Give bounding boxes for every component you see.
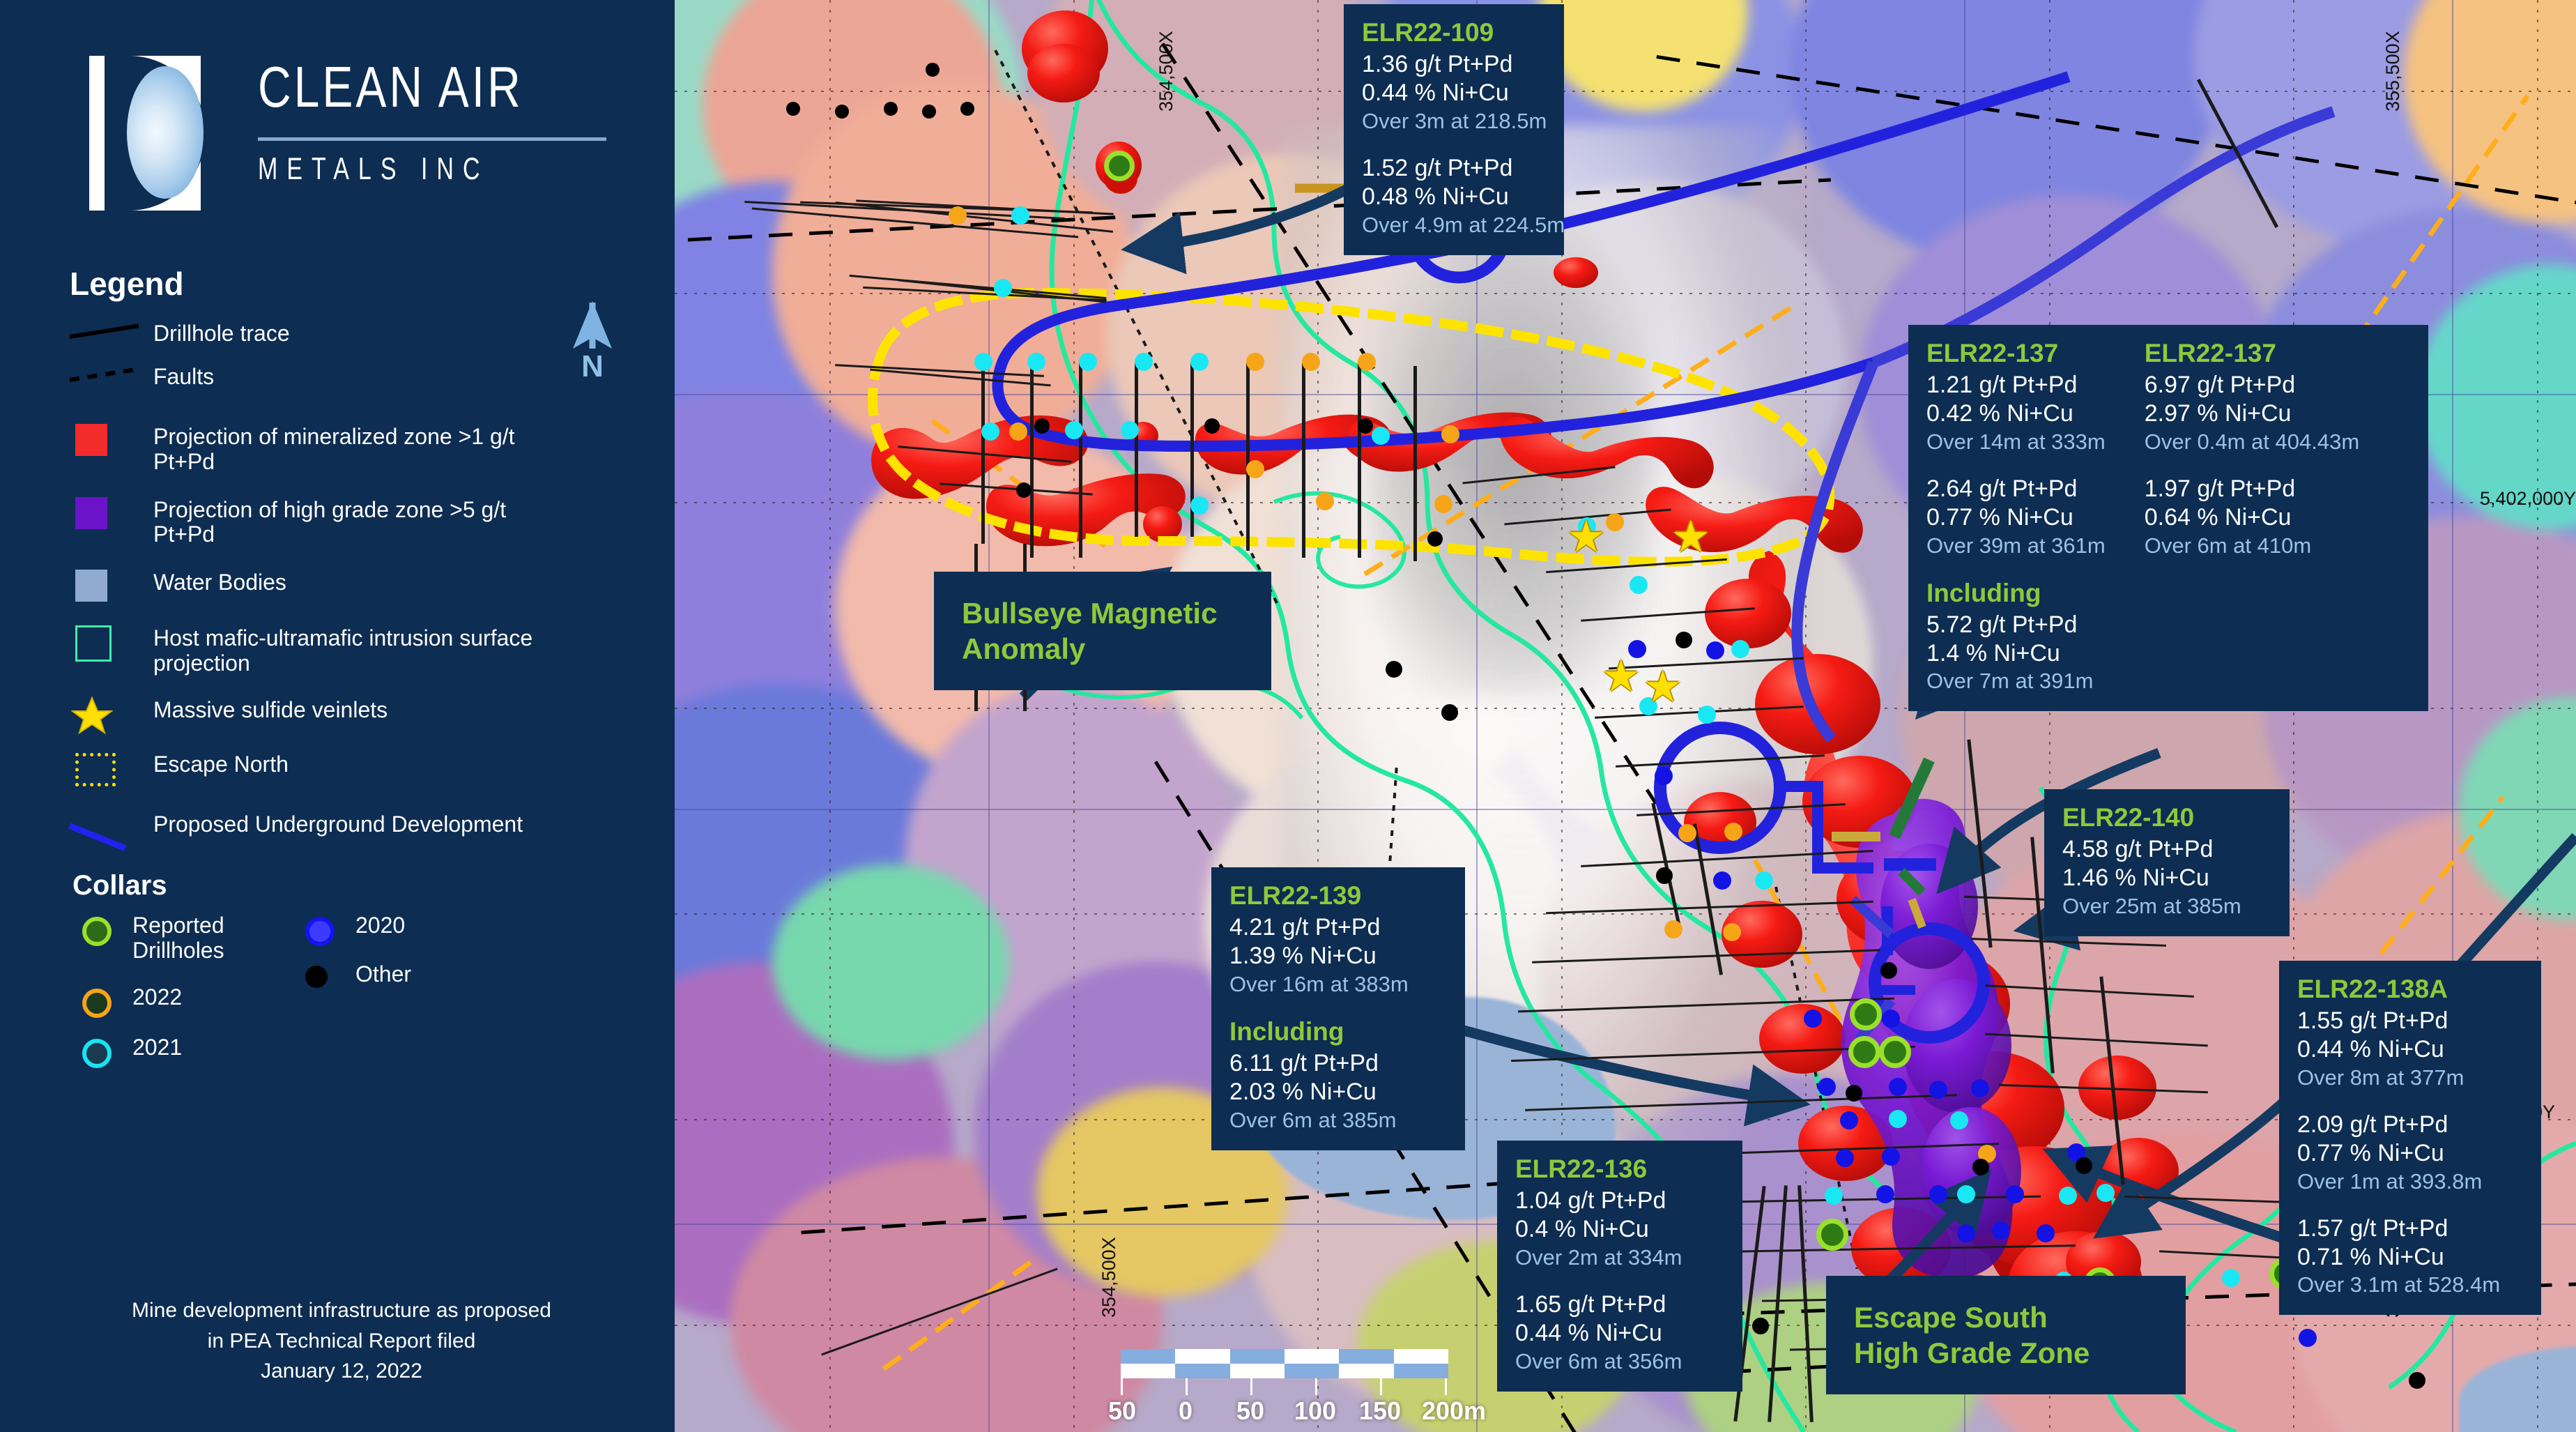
callout-column-left: ELR22-137 1.21 g/t Pt+Pd 0.42 % Ni+Cu Ov…	[1926, 339, 2106, 694]
grid-label-355500x-top: 355,500X	[2382, 31, 2404, 112]
callout-elr22-138a[interactable]: ELR22-138A 1.55 g/t Pt+Pd 0.44 % Ni+Cu O…	[2279, 961, 2541, 1315]
callout-ptpd: 1.55 g/t Pt+Pd	[2297, 1007, 2523, 1035]
callout-over: Over 14m at 333m	[1926, 429, 2106, 455]
scale-tick-label: 50	[1108, 1396, 1136, 1426]
water-square-icon	[70, 568, 153, 604]
zone-label-line1: Bullseye Magnetic	[962, 595, 1243, 631]
legend-item-label: Projection of mineralized zone >1 g/t Pt…	[153, 422, 530, 475]
callout-ptpd: 1.57 g/t Pt+Pd	[2297, 1214, 2523, 1243]
callout-nicu: 0.4 % Ni+Cu	[1515, 1215, 1724, 1244]
collar-item-other: Other	[293, 960, 516, 993]
legend-item-label: Water Bodies	[153, 568, 286, 595]
map-canvas[interactable]: ★ ★ ★ ★ 354,500X 355,500X 5,402,000Y 354…	[675, 0, 2576, 1432]
callout-nicu: 1.4 % Ni+Cu	[1926, 639, 2106, 668]
callout-elr22-139[interactable]: ELR22-139 4.21 g/t Pt+Pd 1.39 % Ni+Cu Ov…	[1211, 867, 1465, 1150]
footer-line-1: Mine development infrastructure as propo…	[28, 1295, 655, 1326]
collars-column-right: 2020 Other	[293, 911, 516, 1076]
callout-over: Over 2m at 334m	[1515, 1244, 1724, 1271]
collar-item-label: 2020	[355, 911, 405, 938]
callout-over: Over 3m at 218.5m	[1362, 108, 1546, 135]
callout-ptpd: 4.21 g/t Pt+Pd	[1229, 913, 1447, 942]
callout-elr22-137[interactable]: ELR22-137 1.21 g/t Pt+Pd 0.42 % Ni+Cu Ov…	[1908, 325, 2428, 711]
callout-title: ELR22-137	[2145, 339, 2359, 368]
callout-nicu: 1.39 % Ni+Cu	[1229, 942, 1447, 970]
company-subname: METALS INC	[258, 152, 606, 188]
collar-item-reported: Reported Drillholes	[70, 911, 293, 963]
black-dot-icon	[293, 960, 355, 993]
callout-title: ELR22-136	[1515, 1155, 1724, 1184]
legend-item-massive-sulfide: Massive sulfide veinlets	[70, 696, 627, 732]
callout-including-title: Including	[1926, 579, 2106, 608]
zone-label-line2: High Grade Zone	[1854, 1335, 2158, 1371]
callout-ptpd: 1.36 g/t Pt+Pd	[1362, 50, 1546, 79]
callout-over: Over 4.9m at 224.5m	[1362, 212, 1546, 238]
legend-item-label: Drillhole trace	[153, 319, 290, 346]
company-name: CLEAN AIR	[258, 58, 606, 116]
callout-ptpd: 1.04 g/t Pt+Pd	[1515, 1187, 1724, 1215]
scale-tick-label: 100	[1294, 1396, 1336, 1426]
callout-nicu: 1.46 % Ni+Cu	[2062, 864, 2271, 892]
collars-column-left: Reported Drillholes 2022 2021	[70, 911, 293, 1076]
label-escape-south-high-grade-zone[interactable]: Escape South High Grade Zone	[1826, 1276, 2186, 1394]
map-figure: ★ ★ ★ ★ 354,500X 355,500X 5,402,000Y 354…	[0, 0, 2576, 1432]
scale-tick-label: 200m	[1422, 1396, 1486, 1426]
collar-item-label: Other	[355, 960, 411, 987]
fault-dashed-icon	[70, 363, 153, 399]
callout-title: ELR22-138A	[2297, 975, 2523, 1004]
callout-over: Over 8m at 377m	[2297, 1065, 2523, 1091]
scale-tick-label: 0	[1179, 1396, 1193, 1426]
callout-ptpd: 1.65 g/t Pt+Pd	[1515, 1290, 1724, 1319]
scale-bar-bars	[1121, 1349, 1448, 1378]
callout-over: Over 25m at 385m	[2062, 893, 2271, 920]
callout-nicu: 0.42 % Ni+Cu	[1926, 399, 2106, 428]
callout-over: Over 3.1m at 528.4m	[2297, 1272, 2523, 1298]
legend-item-label: Faults	[153, 363, 214, 390]
callout-ptpd: 1.97 g/t Pt+Pd	[2145, 475, 2359, 503]
star-icon	[70, 696, 153, 732]
callout-title: ELR22-109	[1362, 18, 1546, 47]
callout-ptpd: 5.72 g/t Pt+Pd	[1926, 611, 2106, 639]
host-outline-square-icon	[70, 624, 153, 660]
star-icon: ★	[1643, 666, 1682, 709]
scale-tick-label: 50	[1236, 1396, 1264, 1426]
legend-item-drillhole-trace: Drillhole trace	[70, 319, 627, 356]
star-icon: ★	[1602, 655, 1641, 699]
grid-label-354500x-bottom: 354,500X	[1098, 1237, 1120, 1318]
callout-ptpd: 4.58 g/t Pt+Pd	[2062, 835, 2271, 864]
footer-line-3: January 12, 2022	[28, 1356, 655, 1387]
zone-label-line1: Escape South	[1854, 1300, 2158, 1335]
green-ring-icon	[70, 911, 132, 945]
cyan-ring-icon	[70, 1033, 132, 1067]
legend-item-label: Massive sulfide veinlets	[153, 696, 388, 723]
legend-item-label: Escape North	[153, 750, 289, 777]
grid-label-354500x-top: 354,500X	[1156, 31, 1177, 112]
callout-over: Over 6m at 410m	[2145, 533, 2359, 559]
legend-item-water-bodies: Water Bodies	[70, 568, 627, 604]
callout-over: Over 6m at 385m	[1229, 1107, 1447, 1134]
callout-elr22-140[interactable]: ELR22-140 4.58 g/t Pt+Pd 1.46 % Ni+Cu Ov…	[2044, 789, 2290, 936]
collars-title: Collars	[72, 870, 627, 901]
collar-item-label: 2021	[132, 1033, 182, 1060]
callout-ptpd: 6.97 g/t Pt+Pd	[2145, 371, 2359, 399]
callout-nicu: 2.03 % Ni+Cu	[1229, 1078, 1447, 1106]
grid-label-5402000y: 5,402,000Y	[2480, 488, 2576, 510]
legend-item-proposed-development: Proposed Underground Development	[70, 810, 627, 846]
legend-title: Legend	[70, 265, 627, 303]
footer-note: Mine development infrastructure as propo…	[28, 1295, 655, 1387]
callout-nicu: 0.44 % Ni+Cu	[2297, 1035, 2523, 1064]
callout-including-title: Including	[1229, 1017, 1447, 1046]
zone-label-line2: Anomaly	[962, 631, 1243, 667]
legend-item-label: Host mafic-ultramafic intrusion surface …	[153, 624, 544, 676]
callout-title: ELR22-140	[2062, 803, 2271, 832]
purple-square-icon	[70, 496, 153, 532]
callout-ptpd: 2.64 g/t Pt+Pd	[1926, 475, 2106, 503]
callout-elr22-136[interactable]: ELR22-136 1.04 g/t Pt+Pd 0.4 % Ni+Cu Ove…	[1497, 1141, 1742, 1392]
star-icon: ★	[1671, 516, 1710, 559]
callout-over: Over 0.4m at 404.43m	[2145, 429, 2359, 455]
red-square-icon	[70, 422, 153, 459]
legend-item-escape-north: Escape North	[70, 750, 627, 786]
logo-mark-icon	[84, 52, 244, 213]
blue-ring-icon	[293, 911, 355, 945]
callout-over: Over 7m at 391m	[1926, 668, 2106, 694]
company-logo: CLEAN AIR METALS INC	[84, 52, 613, 227]
callout-over: Over 1m at 393.8m	[2297, 1168, 2523, 1195]
scale-tick-label: 150	[1359, 1396, 1401, 1426]
callout-title: ELR22-139	[1229, 881, 1447, 911]
callout-ptpd: 1.52 g/t Pt+Pd	[1362, 154, 1546, 183]
legend-item-faults: Faults	[70, 363, 627, 399]
collar-item-label: Reported Drillholes	[132, 911, 293, 963]
scale-bar-labels: 50 0 50 100 150 200m	[1121, 1396, 1448, 1427]
legend-item-high-grade-zone: Projection of high grade zone >5 g/t Pt+…	[70, 496, 627, 548]
callout-nicu: 0.44 % Ni+Cu	[1362, 79, 1546, 107]
callout-nicu: 0.44 % Ni+Cu	[1515, 1319, 1724, 1348]
label-bullseye-magnetic-anomaly[interactable]: Bullseye Magnetic Anomaly	[934, 572, 1271, 690]
collar-item-label: 2022	[132, 983, 182, 1010]
legend-panel: CLEAN AIR METALS INC N Legend Drillhole …	[0, 0, 675, 1432]
callout-column-right: ELR22-137 6.97 g/t Pt+Pd 2.97 % Ni+Cu Ov…	[2145, 339, 2359, 694]
legend-item-label: Projection of high grade zone >5 g/t Pt+…	[153, 496, 530, 548]
logo-divider	[258, 137, 606, 141]
callout-over: Over 16m at 383m	[1229, 971, 1447, 998]
callout-nicu: 0.71 % Ni+Cu	[2297, 1243, 2523, 1272]
legend-item-label: Proposed Underground Development	[153, 810, 530, 837]
legend: Legend Drillhole trace Faults Projection…	[70, 265, 627, 1076]
legend-item-mineralized-zone: Projection of mineralized zone >1 g/t Pt…	[70, 422, 627, 475]
callout-nicu: 0.77 % Ni+Cu	[2297, 1139, 2523, 1168]
blue-line-icon	[70, 810, 153, 846]
collars-legend: Reported Drillholes 2022 2021 2020	[70, 911, 627, 1076]
star-icon: ★	[1567, 516, 1606, 559]
drillhole-trace-icon	[70, 319, 153, 356]
callout-ptpd: 1.21 g/t Pt+Pd	[1926, 371, 2106, 399]
footer-line-2: in PEA Technical Report filed	[28, 1326, 655, 1357]
scale-bar: 50 0 50 100 150 200m	[1121, 1349, 1448, 1427]
legend-item-host-intrusion: Host mafic-ultramafic intrusion surface …	[70, 624, 627, 676]
callout-elr22-109[interactable]: ELR22-109 1.36 g/t Pt+Pd 0.44 % Ni+Cu Ov…	[1344, 4, 1564, 255]
collar-item-2020: 2020	[293, 911, 516, 945]
logo-wordmark: CLEAN AIR METALS INC	[258, 58, 606, 179]
yellow-dotted-rect-icon	[70, 750, 153, 786]
callout-title: ELR22-137	[1926, 339, 2106, 368]
callout-nicu: 0.64 % Ni+Cu	[2145, 503, 2359, 532]
callout-nicu: 2.97 % Ni+Cu	[2145, 399, 2359, 428]
callout-ptpd: 2.09 g/t Pt+Pd	[2297, 1111, 2523, 1139]
callout-ptpd: 6.11 g/t Pt+Pd	[1229, 1049, 1447, 1078]
callout-nicu: 0.48 % Ni+Cu	[1362, 183, 1546, 211]
orange-ring-icon	[70, 983, 132, 1016]
callout-over: Over 6m at 356m	[1515, 1348, 1724, 1375]
callout-over: Over 39m at 361m	[1926, 533, 2106, 559]
collar-item-2022: 2022	[70, 983, 293, 1016]
scale-bar-ticks	[1121, 1378, 1448, 1396]
collar-item-2021: 2021	[70, 1033, 293, 1067]
callout-nicu: 0.77 % Ni+Cu	[1926, 503, 2106, 532]
